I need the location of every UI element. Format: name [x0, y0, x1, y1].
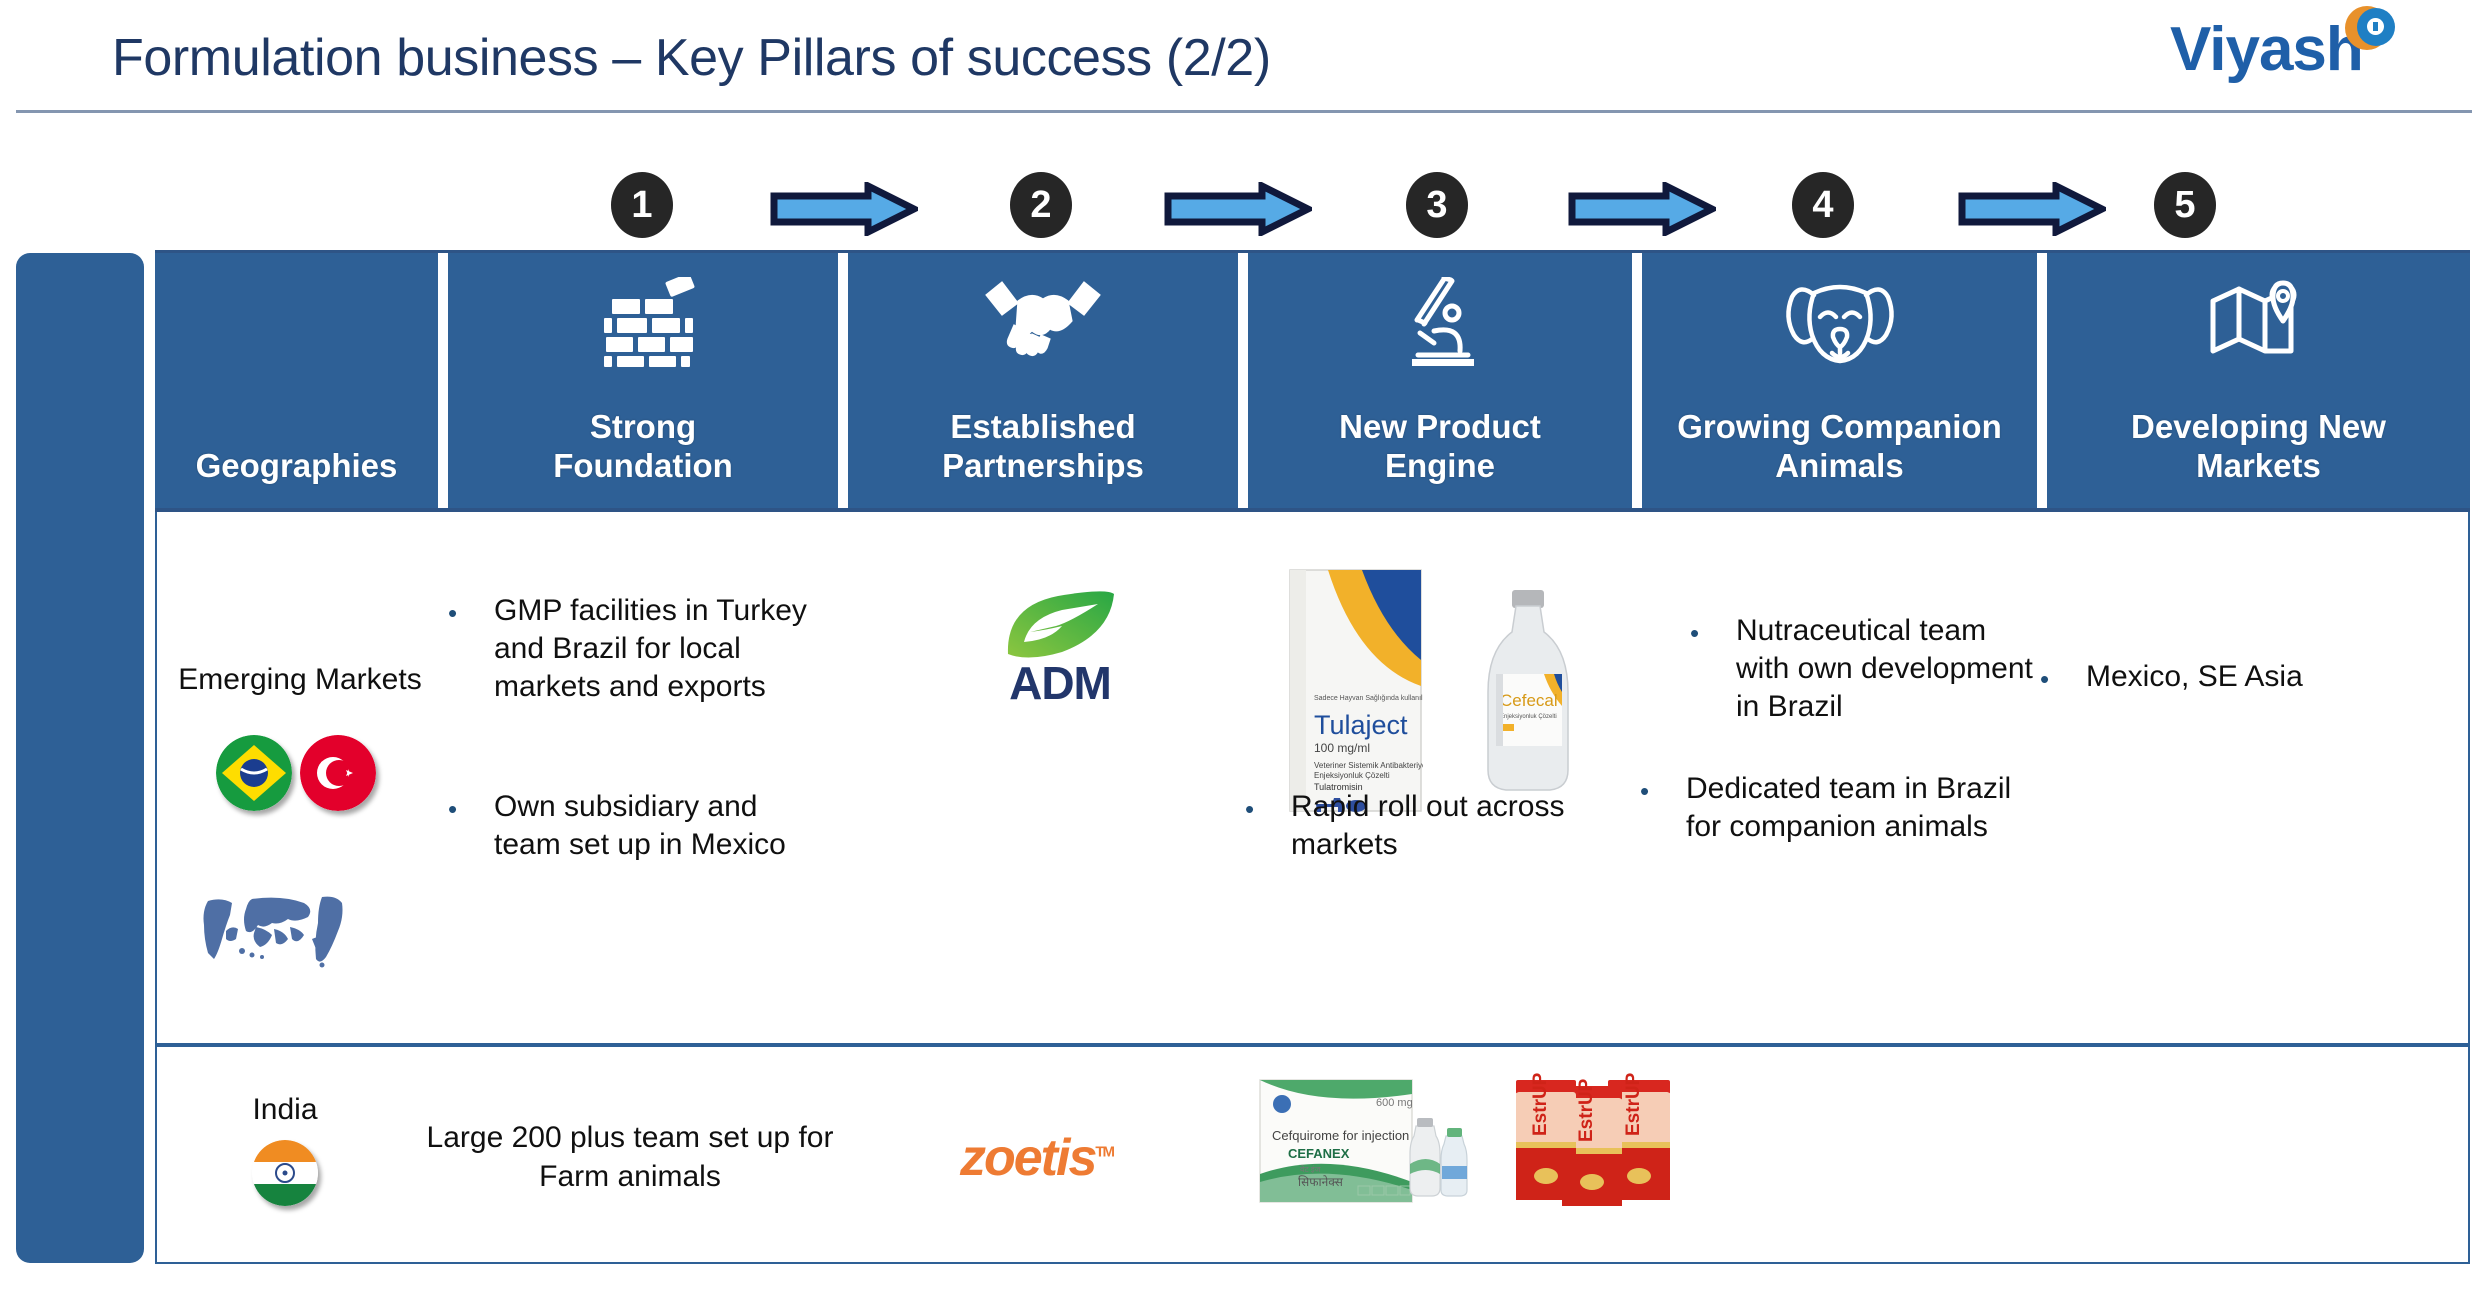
header-divider	[1238, 253, 1248, 508]
right-arrow-icon-1	[770, 182, 918, 236]
bullet-rapid-roll-out: • Rapid roll out across markets	[1245, 788, 1585, 864]
viyash-logo: Viyash	[2170, 6, 2460, 98]
svg-text:Veteriner Sistemik Antibakteri: Veteriner Sistemik Antibakteriyel	[1314, 761, 1423, 770]
right-arrow-icon-4	[1958, 182, 2106, 236]
header-label-line1: Established	[942, 408, 1144, 447]
zoetis-wordmark: zoetis	[960, 1129, 1095, 1187]
bullet-text: Nutraceutical team with own development …	[1736, 612, 2040, 726]
geography-label-india: India	[185, 1090, 385, 1129]
header-label-developing-new-markets: Developing New Markets	[2131, 408, 2386, 486]
svg-text:Sadece Hayvan Sağlığında kulla: Sadece Hayvan Sağlığında kullanılır	[1314, 695, 1423, 702]
header-label-established-partnerships: Established Partnerships	[942, 408, 1144, 486]
turkey-flag-icon	[300, 735, 376, 811]
header-label-line2: Partnerships	[942, 447, 1144, 486]
svg-text:EstrUP: EstrUP	[1530, 1072, 1551, 1136]
header-label-growing-companion-animals: Growing Companion Animals	[1677, 408, 2001, 486]
svg-text:Enjeksiyonluk Çözelti: Enjeksiyonluk Çözelti	[1500, 714, 1557, 720]
estrup-bolus-image: EstrUP EstrUP EstrUP	[1498, 1070, 1688, 1210]
header-divider	[838, 253, 848, 508]
header-label-line2: Foundation	[553, 447, 733, 486]
zoetis-trademark: TM	[1095, 1144, 1113, 1161]
svg-text:वेट इंज: वेट इंज	[1300, 1164, 1322, 1174]
bullet-marker: •	[448, 592, 494, 626]
header-label-line1: New Product	[1339, 408, 1541, 447]
adm-wordmark: ADM	[975, 656, 1145, 710]
bullet-marker: •	[1245, 788, 1291, 822]
header-col-geographies[interactable]: Geographies	[155, 253, 438, 508]
geography-label-emerging-markets: Emerging Markets	[170, 660, 430, 699]
brand-name: Viyash	[2170, 14, 2363, 85]
bullet-text: Own subsidiary and team set up in Mexico	[494, 788, 808, 864]
bullet-gmp-facilities: • GMP facilities in Turkey and Brazil fo…	[448, 592, 808, 706]
step-circle-5[interactable]: 5	[2154, 172, 2216, 238]
flag-group-emerging	[216, 735, 376, 816]
bullet-text: Dedicated team in Brazil for companion a…	[1686, 770, 2020, 846]
bullet-text: Rapid roll out across markets	[1291, 788, 1585, 864]
header-label-line2: Markets	[2131, 447, 2386, 486]
step-circle-1[interactable]: 1	[611, 172, 673, 238]
header-label-new-product-engine: New Product Engine	[1339, 408, 1541, 486]
header-col-developing-new-markets[interactable]: Developing New Markets	[2047, 253, 2470, 508]
cefecal-bottle-image: Cefecal Enjeksiyonluk Çözelti	[1468, 588, 1588, 798]
header-col-strong-foundation[interactable]: Strong Foundation	[448, 253, 838, 508]
page-title: Formulation business – Key Pillars of su…	[112, 28, 1271, 88]
bullet-marker: •	[448, 788, 494, 822]
adm-logo-icon: ADM	[975, 588, 1145, 710]
india-strong-foundation-text: Large 200 plus team set up for Farm anim…	[420, 1118, 840, 1196]
header-divider	[438, 253, 448, 508]
header-label-line1: Growing Companion	[1677, 408, 2001, 447]
header-divider	[2037, 253, 2047, 508]
row-divider-india	[157, 1043, 2468, 1047]
bullet-own-subsidiary-mexico: • Own subsidiary and team set up in Mexi…	[448, 788, 808, 864]
world-map-icon	[196, 895, 348, 975]
svg-text:सिफानेक्स: सिफानेक्स	[1298, 1175, 1344, 1189]
header-label-line1: Developing New	[2131, 408, 2386, 447]
right-arrow-icon-3	[1568, 182, 1716, 236]
left-accent-bar	[16, 253, 144, 1263]
map-pin-icon	[2207, 277, 2311, 367]
step-circle-4[interactable]: 4	[1792, 172, 1854, 238]
step-circle-2[interactable]: 2	[1010, 172, 1072, 238]
dog-face-icon	[1776, 277, 1904, 369]
bullet-text: Mexico, SE Asia	[2086, 658, 2303, 696]
pillars-header-row: Geographies Strong Foundation	[155, 250, 2470, 512]
logo-core-bar-icon	[2373, 22, 2378, 31]
svg-text:100 mg/ml: 100 mg/ml	[1314, 741, 1370, 755]
header-col-new-product-engine[interactable]: New Product Engine	[1248, 253, 1632, 508]
brazil-flag-icon	[216, 735, 292, 811]
bullet-marker: •	[2040, 658, 2086, 692]
header-label-line1: Strong	[553, 408, 733, 447]
india-flag-icon	[252, 1140, 318, 1206]
svg-text:EstrUP: EstrUP	[1576, 1078, 1597, 1142]
bullet-mexico-se-asia: • Mexico, SE Asia	[2040, 658, 2440, 696]
microscope-icon	[1390, 277, 1490, 369]
header-label-geographies: Geographies	[196, 447, 398, 486]
step-circle-3[interactable]: 3	[1406, 172, 1468, 238]
header-col-established-partnerships[interactable]: Established Partnerships	[848, 253, 1238, 508]
header-label-line2: Animals	[1677, 447, 2001, 486]
cefanex-box-image: 600 mg Cefquirome for injection CEFANEX …	[1258, 1078, 1478, 1208]
bullet-marker: •	[1640, 770, 1686, 804]
zoetis-logo-icon: zoetisTM	[960, 1128, 1140, 1188]
handshake-icon	[984, 277, 1102, 357]
svg-text:CEFANEX: CEFANEX	[1288, 1146, 1350, 1161]
bullet-nutraceutical-team: • Nutraceutical team with own developmen…	[1690, 612, 2040, 726]
svg-text:Enjeksiyonluk Çözelti: Enjeksiyonluk Çözelti	[1314, 771, 1390, 780]
svg-text:Cefquirome for injection: Cefquirome for injection	[1272, 1128, 1409, 1143]
adm-leaf-icon	[1000, 588, 1120, 662]
brick-wall-icon	[588, 277, 698, 367]
tulaject-box-image: Sadece Hayvan Sağlığında kullanılır Tula…	[1288, 568, 1423, 813]
header-col-growing-companion-animals[interactable]: Growing Companion Animals	[1642, 253, 2037, 508]
svg-text:Cefecal: Cefecal	[1500, 691, 1558, 710]
header-label-line2: Engine	[1339, 447, 1541, 486]
bullet-marker: •	[1690, 612, 1736, 646]
header-label-strong-foundation: Strong Foundation	[553, 408, 733, 486]
right-arrow-icon-2	[1164, 182, 1312, 236]
svg-text:600 mg: 600 mg	[1376, 1097, 1413, 1109]
svg-text:EstrUP: EstrUP	[1623, 1072, 1644, 1136]
title-divider	[16, 110, 2472, 113]
header-divider	[1632, 253, 1642, 508]
bullet-text: GMP facilities in Turkey and Brazil for …	[494, 592, 808, 706]
bullet-dedicated-team-brazil: • Dedicated team in Brazil for companion…	[1640, 770, 2020, 846]
svg-text:Tulaject: Tulaject	[1314, 710, 1408, 740]
